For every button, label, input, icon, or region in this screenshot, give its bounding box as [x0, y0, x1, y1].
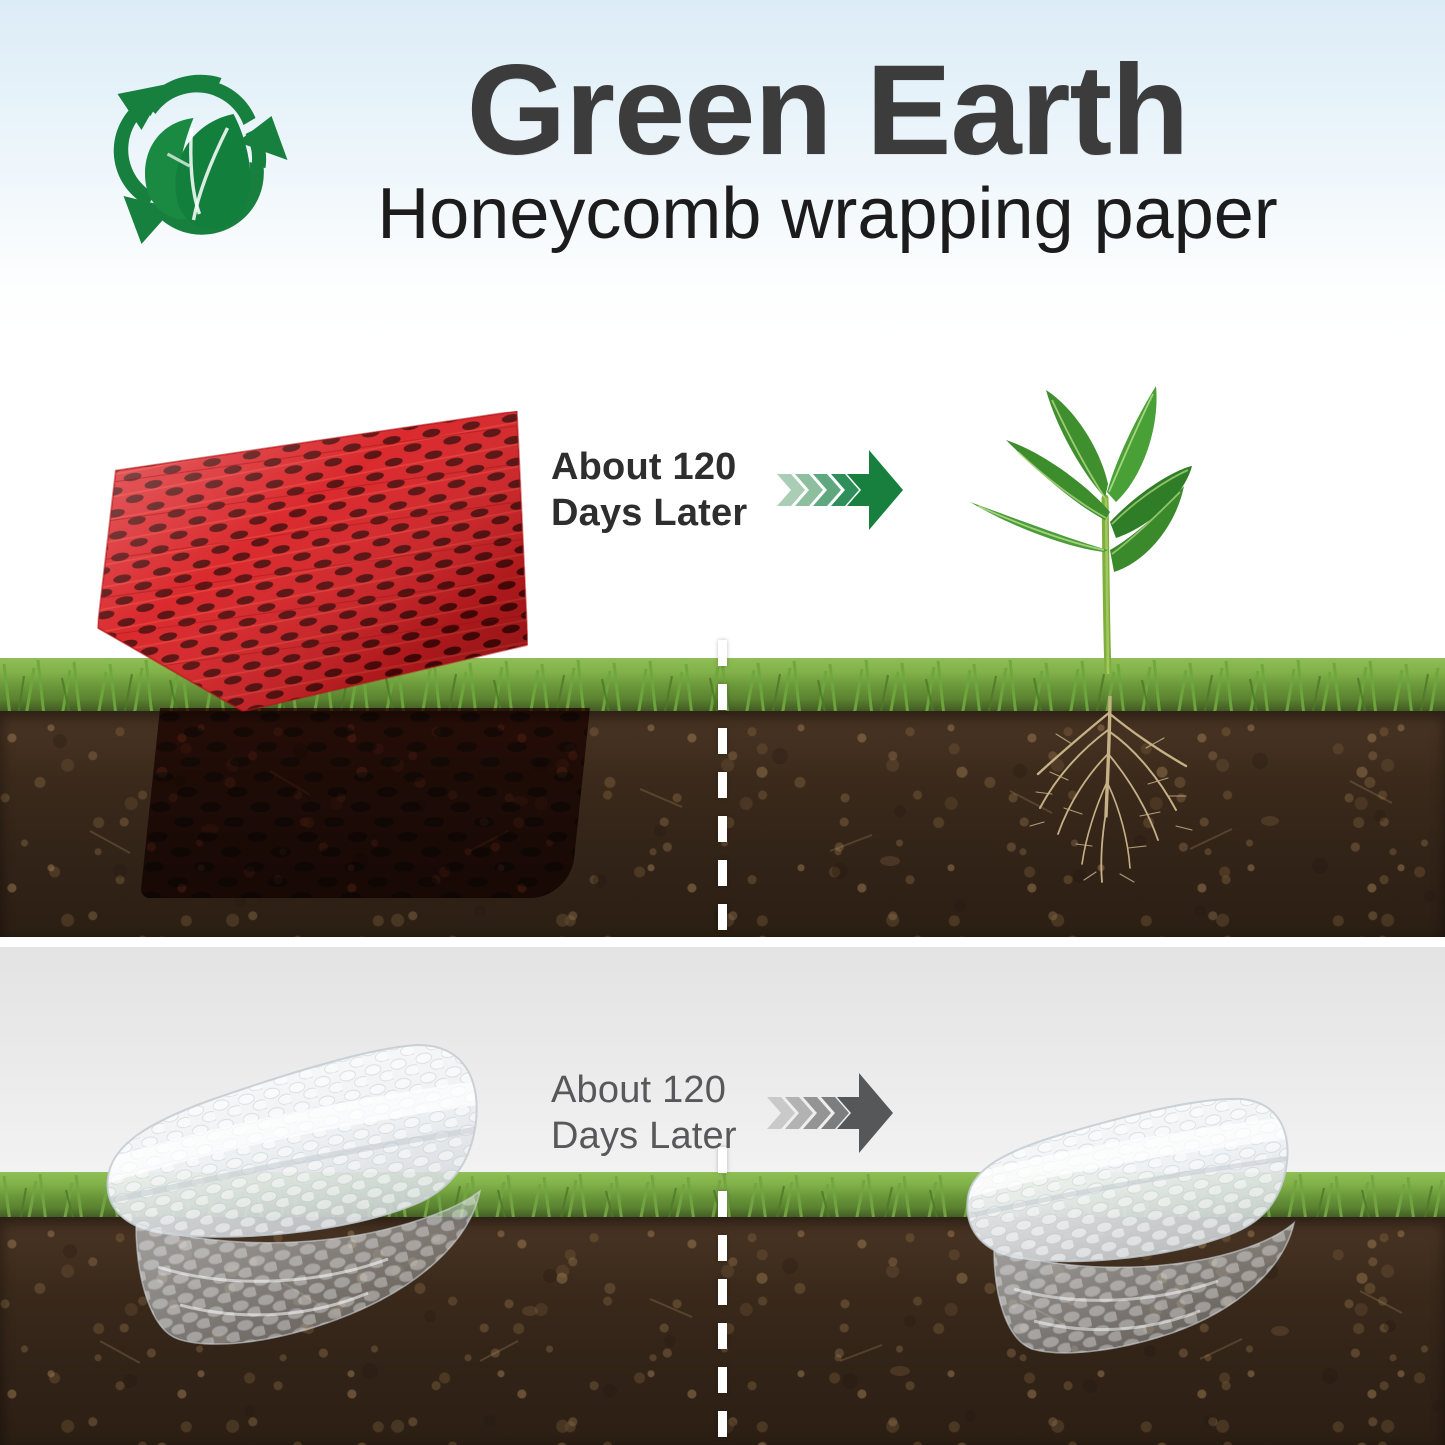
header-banner: Green Earth Honeycomb wrapping paper — [0, 0, 1445, 340]
bubble-wrap-before — [88, 1027, 518, 1357]
dashed-time-divider-bottom — [718, 1147, 727, 1445]
plant-root-system — [1000, 696, 1230, 886]
caption-prefix-bottom: About — [551, 1069, 662, 1111]
green-seedling-plant — [960, 374, 1260, 674]
recycle-leaf-icon — [95, 48, 300, 258]
caption-line-1-top: About 120 — [551, 444, 747, 490]
panel-separator — [0, 937, 1445, 947]
caption-text-bottom: About 120 Days Later — [551, 1067, 737, 1160]
honeycomb-paper-panel: About 120 Days Later — [0, 340, 1445, 937]
right-arrow-icon-gray — [763, 1067, 895, 1159]
red-honeycomb-wrapping-paper — [97, 410, 530, 723]
plastic-bubble-wrap-panel: About 120 Days Later — [0, 947, 1445, 1445]
caption-days-bottom: 120 — [662, 1069, 726, 1111]
caption-line-2-top: Days Later — [551, 490, 747, 536]
buried-honeycomb-paper — [140, 708, 590, 898]
caption-block-top: About 120 Days Later — [551, 444, 905, 537]
caption-block-bottom: About 120 Days Later — [551, 1067, 895, 1160]
page-title: Green Earth — [310, 48, 1345, 173]
caption-days-top: 120 — [673, 446, 737, 488]
right-arrow-icon — [773, 444, 905, 536]
caption-text-top: About 120 Days Later — [551, 444, 747, 537]
bubble-wrap-after — [928, 1077, 1328, 1367]
caption-line-1-bottom: About 120 — [551, 1067, 737, 1113]
caption-line-2-bottom: Days Later — [551, 1113, 737, 1159]
caption-prefix-top: About — [551, 446, 673, 488]
page-subtitle: Honeycomb wrapping paper — [310, 177, 1345, 253]
dashed-time-divider — [718, 640, 727, 937]
infographic-root: Green Earth Honeycomb wrapping paper — [0, 0, 1445, 1445]
